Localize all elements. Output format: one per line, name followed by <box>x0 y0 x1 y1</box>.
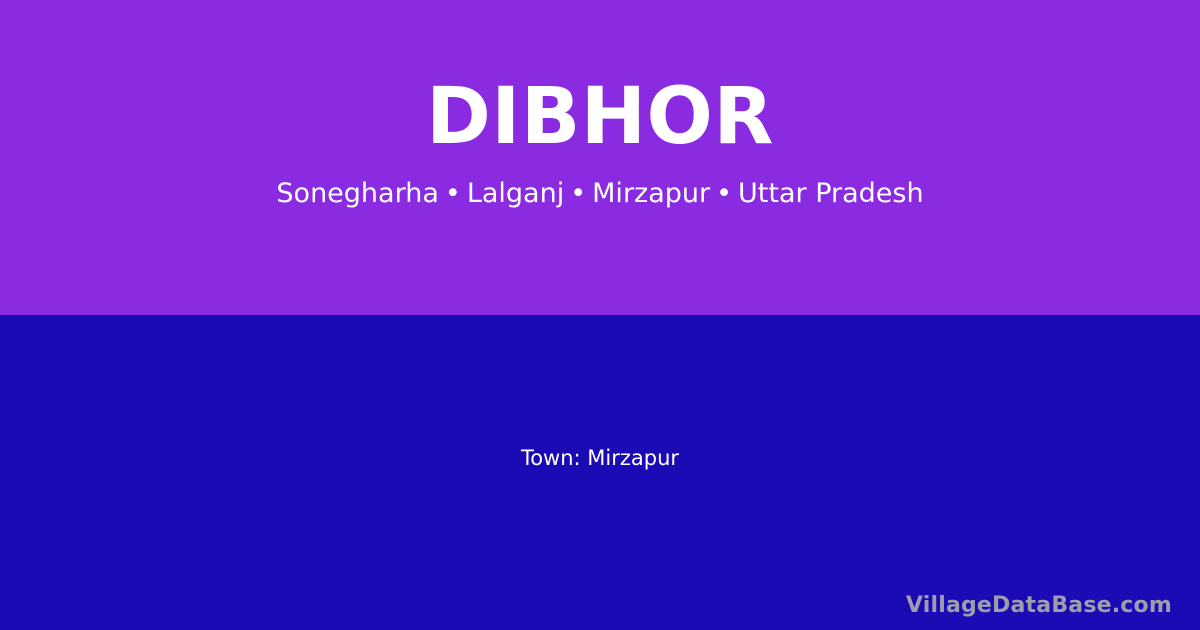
content-panel: Town: Mirzapur VillageDataBase.com <box>0 315 1200 630</box>
breadcrumb-separator: • <box>710 178 738 210</box>
breadcrumb: Sonegharha•Lalganj•Mirzapur•Uttar Prades… <box>276 178 923 210</box>
breadcrumb-item-state: Uttar Pradesh <box>738 178 924 209</box>
breadcrumb-item-tehsil: Lalganj <box>467 178 564 209</box>
detail-row: Town: Mirzapur <box>0 315 1200 630</box>
town-detail-text: Town: Mirzapur <box>521 446 679 470</box>
breadcrumb-item-district: Mirzapur <box>592 178 710 209</box>
hero-banner: DIBHOR Sonegharha•Lalganj•Mirzapur•Uttar… <box>0 0 1200 315</box>
site-watermark: VillageDataBase.com <box>906 593 1172 618</box>
village-info-card: DIBHOR Sonegharha•Lalganj•Mirzapur•Uttar… <box>0 0 1200 630</box>
page-title: DIBHOR <box>426 78 774 156</box>
breadcrumb-separator: • <box>439 178 467 210</box>
breadcrumb-separator: • <box>564 178 592 210</box>
breadcrumb-item-block: Sonegharha <box>276 178 438 209</box>
